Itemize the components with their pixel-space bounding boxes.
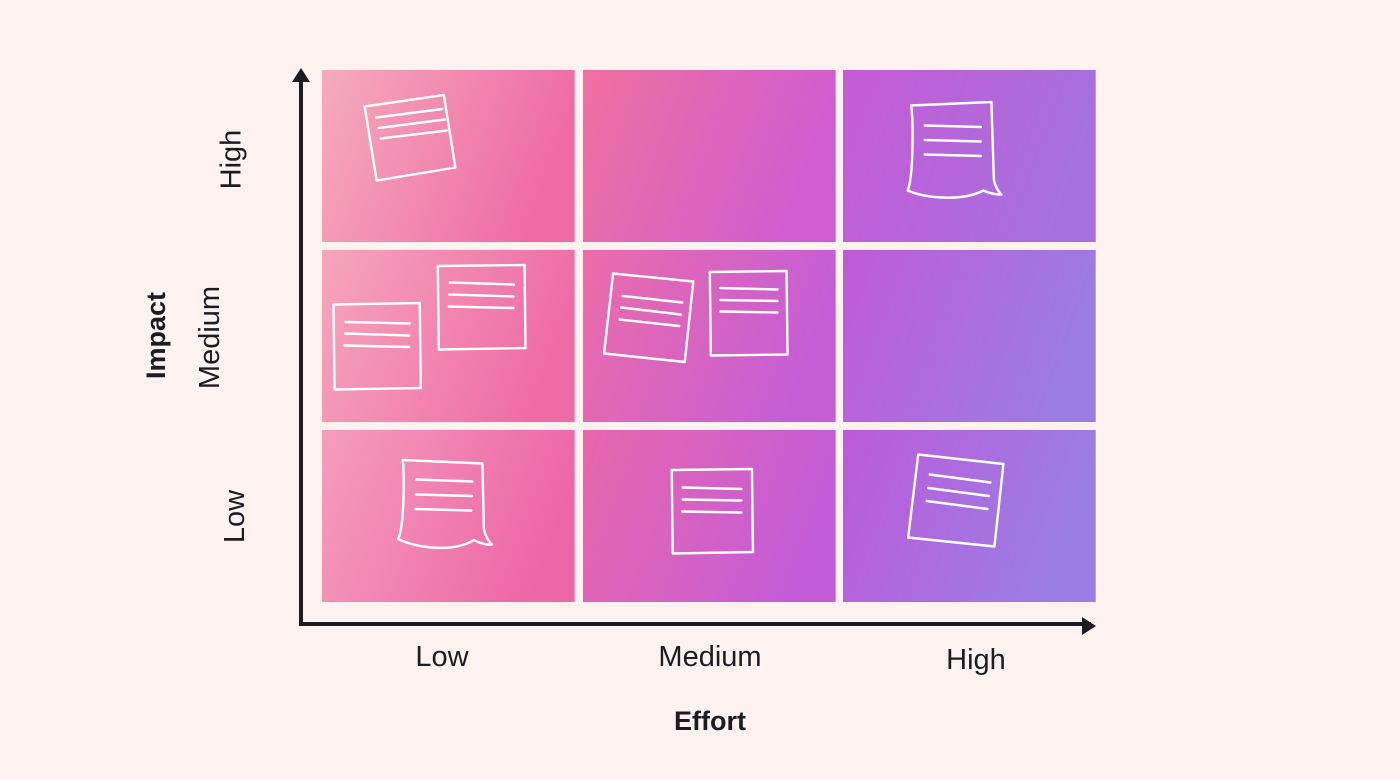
y-tick-high-label: High (216, 130, 249, 190)
x-axis-line (301, 622, 1091, 626)
y-tick-medium-label: Medium (194, 286, 227, 389)
y-axis-line (299, 78, 303, 626)
cell-fill (583, 70, 836, 242)
cell-impact-low-effort-low[interactable] (322, 430, 575, 602)
cell-impact-high-effort-medium[interactable] (583, 70, 836, 242)
matrix-grid (322, 70, 1096, 602)
sticky-note-icon (843, 70, 1096, 242)
y-tick-low-label: Low (219, 490, 252, 543)
sticky-note-icon (322, 70, 575, 242)
y-tick-high: High (0, 143, 262, 176)
cell-impact-high-effort-low[interactable] (322, 70, 575, 242)
cell-impact-medium-effort-medium[interactable] (583, 250, 836, 422)
cell-fill (843, 250, 1096, 422)
sticky-note-icon (322, 430, 575, 602)
cell-impact-medium-effort-low[interactable] (322, 250, 575, 422)
sticky-note-icon (583, 250, 836, 422)
y-tick-low: Low (0, 500, 262, 533)
sticky-note-icon (843, 430, 1096, 602)
x-tick-low: Low (322, 641, 562, 674)
x-tick-high: High (846, 644, 1106, 677)
cell-impact-low-effort-medium[interactable] (583, 430, 836, 602)
sticky-note-icon (322, 250, 575, 422)
x-tick-medium: Medium (582, 641, 838, 674)
cell-impact-medium-effort-high[interactable] (843, 250, 1096, 422)
cell-impact-high-effort-high[interactable] (843, 70, 1096, 242)
y-tick-medium: Medium (0, 321, 262, 354)
x-axis-title: Effort (560, 706, 860, 737)
x-axis-arrow-icon (1082, 617, 1096, 635)
y-axis-arrow-icon (292, 68, 310, 82)
sticky-note-icon (583, 430, 836, 602)
cell-impact-low-effort-high[interactable] (843, 430, 1096, 602)
effort-impact-matrix: Impact High Medium Low (0, 0, 1400, 780)
